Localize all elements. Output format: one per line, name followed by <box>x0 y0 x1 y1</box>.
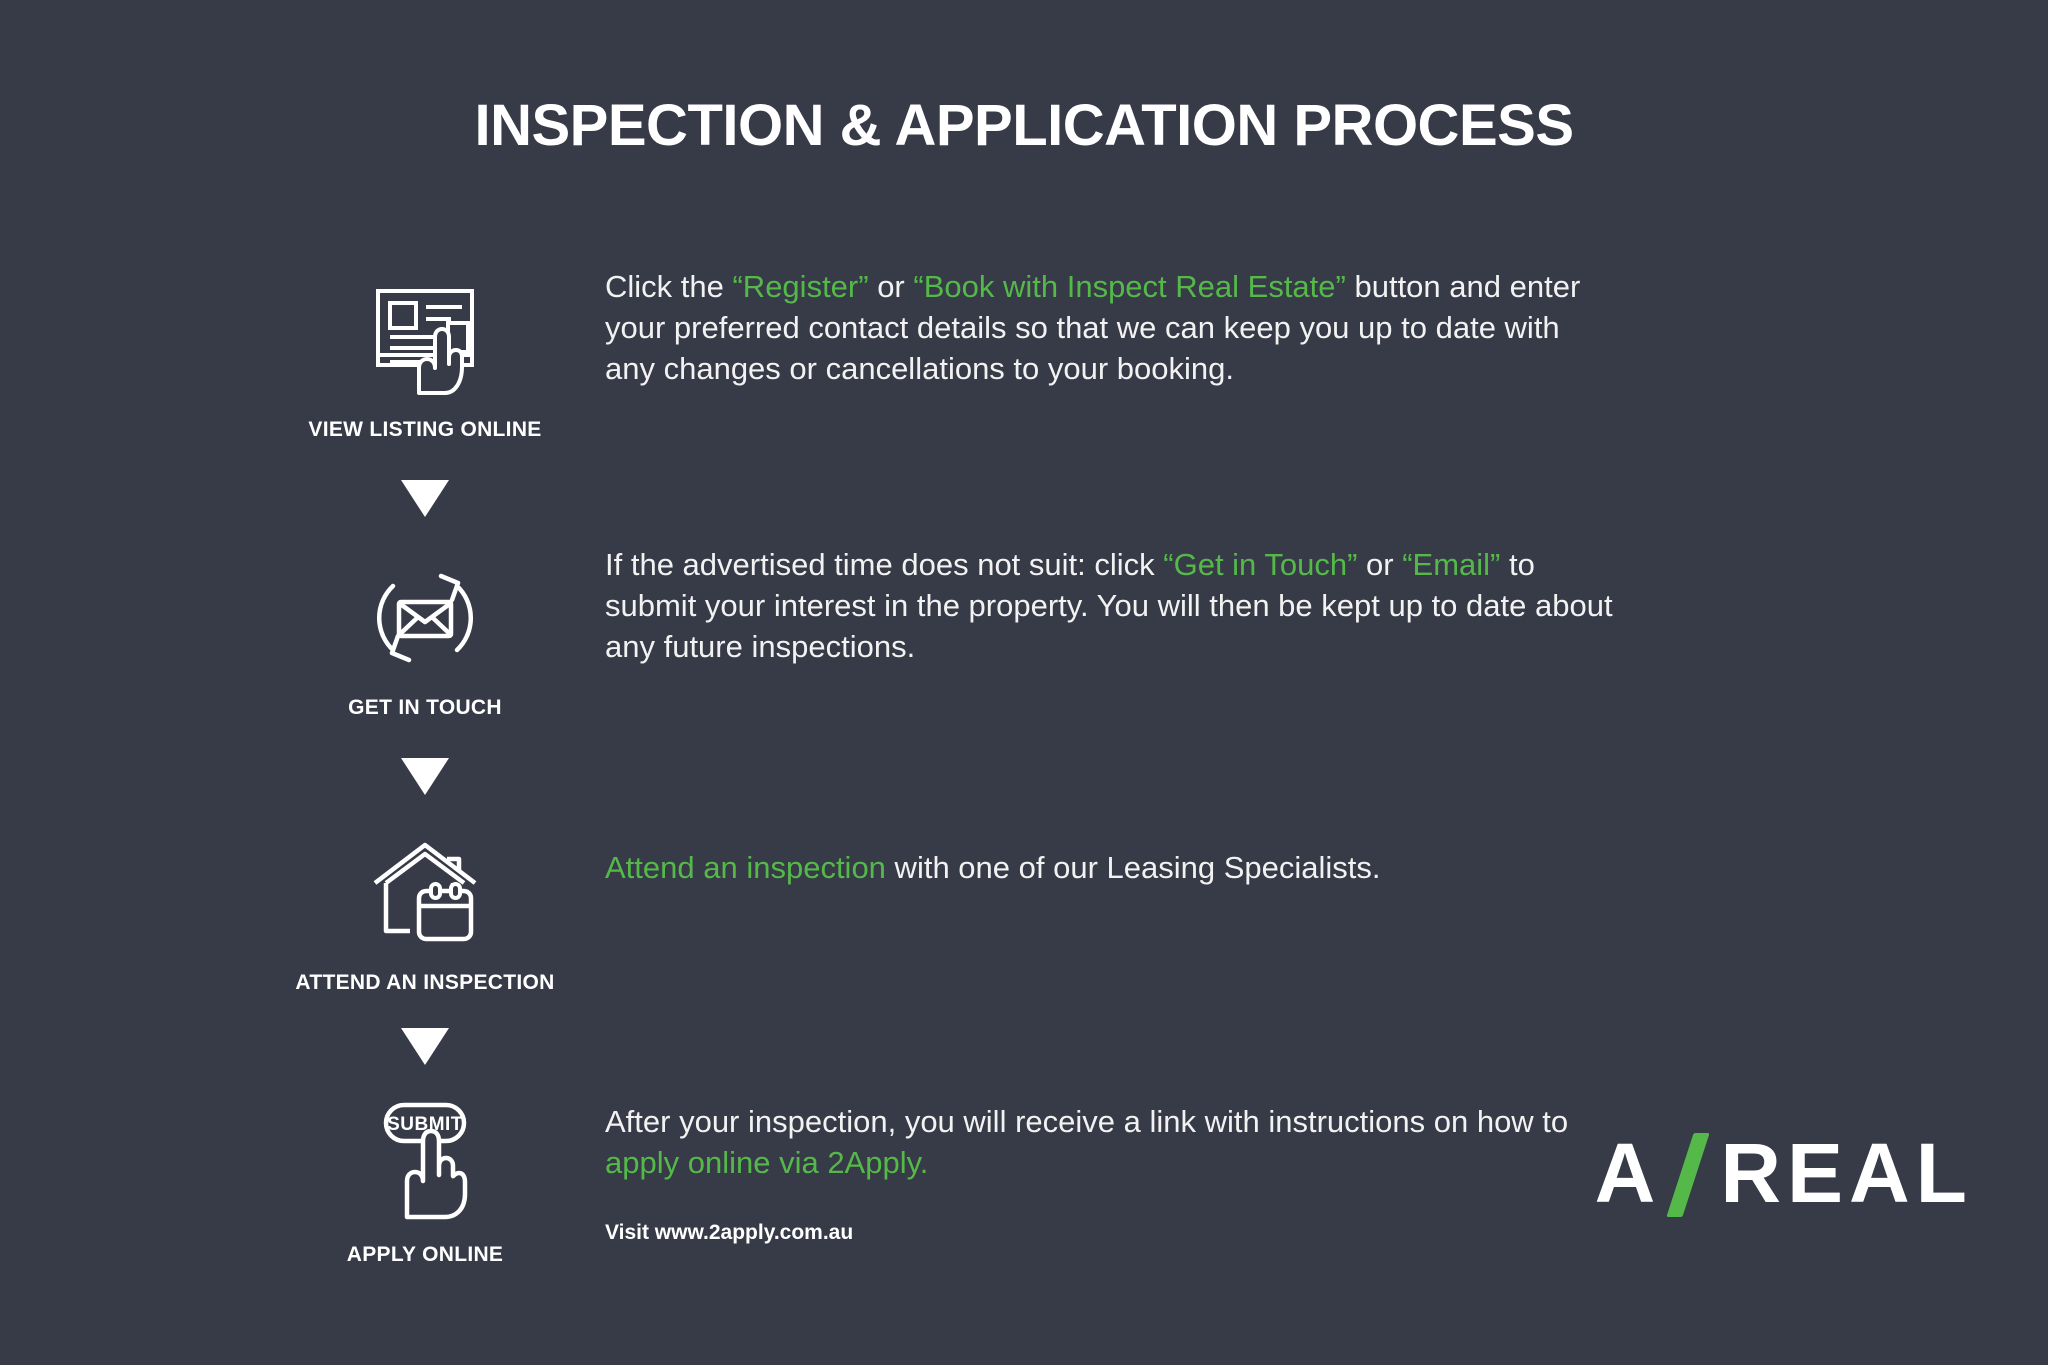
step-1-text-3: “Book with Inspect Real Estate” <box>913 269 1345 304</box>
step-2-body: If the advertised time does not suit: cl… <box>605 544 1615 668</box>
page-title: INSPECTION & APPLICATION PROCESS <box>0 92 2048 159</box>
brand-logo: A REAL <box>1595 1131 1973 1215</box>
step-2-icon-column: GET IN TOUCH <box>280 558 570 720</box>
connector-2 <box>280 758 570 795</box>
green-slash-icon <box>1668 1131 1714 1215</box>
step-3-icon-column: ATTEND AN INSPECTION <box>280 833 570 995</box>
email-refresh-icon <box>280 558 570 678</box>
submit-button-cursor-icon: SUBMIT <box>280 1095 570 1225</box>
step-4-label: APPLY ONLINE <box>280 1243 570 1267</box>
step-2-label: GET IN TOUCH <box>280 696 570 720</box>
step-2-text-3: “Email” <box>1402 547 1500 582</box>
step-1-text-1: “Register” <box>732 269 868 304</box>
step-4-body: After your inspection, you will receive … <box>605 1101 1615 1247</box>
step-3-body: Attend an inspection with one of our Lea… <box>605 847 1615 888</box>
connector-3 <box>280 1028 570 1065</box>
step-1-icon-column: VIEW LISTING ONLINE <box>280 280 570 442</box>
step-4-text-1: apply online via 2Apply. <box>605 1145 928 1180</box>
connector-1 <box>280 480 570 517</box>
house-calendar-icon <box>280 833 570 953</box>
down-triangle-icon <box>401 480 449 517</box>
step-1-label: VIEW LISTING ONLINE <box>280 418 570 442</box>
step-1-text-0: Click the <box>605 269 732 304</box>
step-2-text-2: or <box>1357 547 1402 582</box>
step-1-body: Click the “Register” or “Book with Inspe… <box>605 266 1615 390</box>
listing-cursor-icon <box>280 280 570 400</box>
step-3-text-1: with one of our Leasing Specialists. <box>886 850 1381 885</box>
step-4-footnote: Visit www.2apply.com.au <box>605 1219 1615 1247</box>
step-4-text-0: After your inspection, you will receive … <box>605 1104 1568 1139</box>
step-1-text-2: or <box>869 269 914 304</box>
step-4-icon-column: SUBMIT APPLY ONLINE <box>280 1095 570 1267</box>
logo-letter-a: A <box>1595 1131 1659 1215</box>
step-3-label: ATTEND AN INSPECTION <box>280 971 570 995</box>
step-3-text-0: Attend an inspection <box>605 850 886 885</box>
step-2-text-1: “Get in Touch” <box>1163 547 1357 582</box>
down-triangle-icon <box>401 758 449 795</box>
step-4-paragraph: After your inspection, you will receive … <box>605 1101 1615 1183</box>
logo-word-real: REAL <box>1720 1131 1973 1215</box>
down-triangle-icon <box>401 1028 449 1065</box>
step-2-text-0: If the advertised time does not suit: cl… <box>605 547 1163 582</box>
